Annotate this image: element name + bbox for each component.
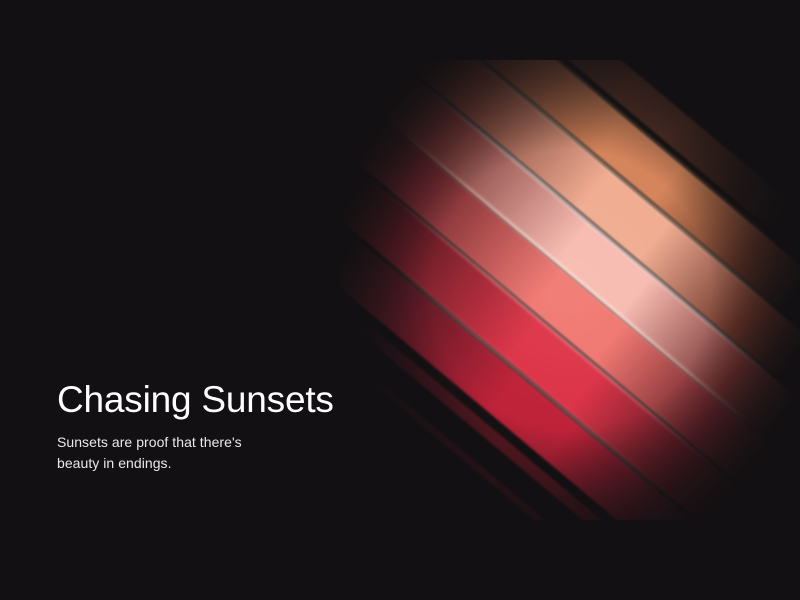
page-title: Chasing Sunsets	[57, 378, 387, 422]
page-subtitle: Sunsets are proof that there's beauty in…	[57, 432, 242, 474]
page-subtitle-line-1: Sunsets are proof that there's	[57, 434, 242, 450]
sunset-stripes-artwork	[340, 60, 800, 520]
poster-canvas: Chasing Sunsets Sunsets are proof that t…	[0, 0, 800, 600]
stripe-group	[340, 60, 800, 520]
caption-block: Chasing Sunsets Sunsets are proof that t…	[57, 378, 387, 474]
page-subtitle-line-2: beauty in endings.	[57, 455, 172, 471]
